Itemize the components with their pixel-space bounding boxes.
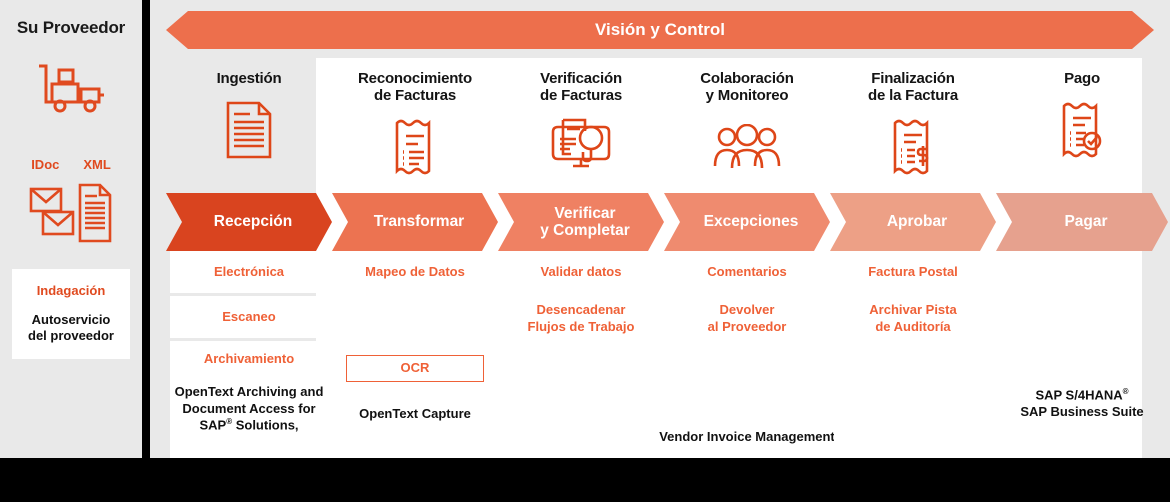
detail-label: Comentarios bbox=[707, 264, 786, 281]
column-title: Finalización de la Factura bbox=[868, 71, 958, 105]
inquiry-subtitle: Autoservicio del proveedor bbox=[18, 312, 124, 345]
column-title: Pago bbox=[1064, 71, 1100, 88]
detail-card: Vendor Invoice Management bbox=[668, 341, 826, 458]
bottom-bar bbox=[0, 458, 1170, 502]
detail-card: Electrónica bbox=[170, 251, 328, 293]
detail-card: OCR OpenText Capture bbox=[336, 341, 494, 458]
detail-card: Desencadenar Flujos de Trabajo bbox=[502, 296, 660, 341]
receipt-lines-icon bbox=[394, 117, 436, 177]
monitor-magnifier-icon bbox=[549, 117, 613, 177]
people-group-icon bbox=[712, 117, 782, 177]
document-lines-icon bbox=[226, 100, 272, 160]
detail-title: Archivamiento bbox=[170, 351, 328, 368]
format-idoc: IDoc bbox=[31, 157, 59, 172]
detail-card: Devolver al Proveedor bbox=[668, 296, 826, 341]
receipt-dollar-icon bbox=[892, 117, 934, 177]
step-label: Pagar bbox=[1056, 213, 1107, 230]
detail-label: Desencadenar Flujos de Trabajo bbox=[528, 302, 635, 336]
column-title: Reconocimiento de Facturas bbox=[358, 71, 472, 105]
detail-label: Devolver al Proveedor bbox=[708, 302, 787, 336]
step-pagar[interactable]: Pagar bbox=[996, 193, 1168, 251]
receipt-check-icon bbox=[1061, 100, 1103, 160]
detail-label: Factura Postal bbox=[868, 264, 958, 281]
detail-title: OCR bbox=[401, 360, 430, 377]
step-transformar[interactable]: Transformar bbox=[332, 193, 498, 251]
detail-card: Factura Postal bbox=[834, 251, 992, 293]
step-label: Recepción bbox=[206, 213, 292, 230]
detail-label: Archivar Pista de Auditoría bbox=[869, 302, 956, 336]
visibility-control-banner: Visión y Control bbox=[166, 11, 1154, 49]
detail-column-finalization: Factura Postal Archivar Pista de Auditor… bbox=[830, 251, 996, 458]
divider-gap bbox=[142, 0, 150, 502]
step-label: Transformar bbox=[366, 213, 464, 230]
column-title: Ingestión bbox=[217, 71, 282, 88]
step-excepciones[interactable]: Excepciones bbox=[664, 193, 830, 251]
detail-label: Electrónica bbox=[214, 264, 284, 281]
detail-label: Mapeo de Datos bbox=[365, 264, 465, 281]
detail-body: OpenText Archiving and Document Access f… bbox=[170, 384, 328, 434]
detail-card: Archivamiento OpenText Archiving and Doc… bbox=[170, 341, 328, 458]
detail-column-payment: SAP S/4HANA®SAP Business Suite bbox=[996, 251, 1168, 458]
detail-card: Archivar Pista de Auditoría bbox=[834, 296, 992, 341]
format-xml: XML bbox=[83, 157, 110, 172]
step-verificar-completar[interactable]: Verificar y Completar bbox=[498, 193, 664, 251]
detail-body: OpenText Capture bbox=[336, 406, 494, 423]
detail-body: SAP S/4HANA®SAP Business Suite bbox=[996, 387, 1168, 421]
detail-column-recognition: Mapeo de Datos OCR OpenText Capture bbox=[332, 251, 498, 458]
process-steps: Recepción Transformar Verificar y Comple… bbox=[166, 193, 1170, 251]
supplier-sidebar: Su Proveedor IDoc XML bbox=[0, 0, 142, 458]
delivery-truck-icon bbox=[35, 62, 107, 119]
detail-card bbox=[834, 341, 992, 458]
detail-label: Escaneo bbox=[222, 309, 275, 326]
column-title: Colaboración y Monitoreo bbox=[700, 71, 793, 105]
step-aprobar[interactable]: Aprobar bbox=[830, 193, 996, 251]
detail-spacer bbox=[336, 296, 494, 338]
detail-columns: Electrónica Escaneo Archivamiento OpenTe… bbox=[166, 251, 1170, 458]
infographic-root: Su Proveedor IDoc XML bbox=[0, 0, 1170, 502]
detail-card: Comentarios bbox=[668, 251, 826, 293]
banner-label: Visión y Control bbox=[595, 20, 725, 40]
detail-column-ingestion: Electrónica Escaneo Archivamiento OpenTe… bbox=[166, 251, 332, 458]
step-label: Verificar y Completar bbox=[532, 205, 630, 239]
detail-column-collaboration: Comentarios Devolver al Proveedor Vendor… bbox=[664, 251, 830, 458]
detail-card: Escaneo bbox=[170, 296, 328, 338]
detail-card: Validar datos bbox=[502, 251, 660, 293]
detail-card: Mapeo de Datos bbox=[336, 251, 494, 293]
step-label: Aprobar bbox=[879, 213, 947, 230]
step-recepcion[interactable]: Recepción bbox=[166, 193, 332, 251]
envelopes-document-icon bbox=[28, 182, 114, 249]
inquiry-card: Indagación Autoservicio del proveedor bbox=[12, 269, 130, 359]
sidebar-title: Su Proveedor bbox=[17, 18, 125, 38]
detail-label: Validar datos bbox=[541, 264, 622, 281]
inquiry-title: Indagación bbox=[18, 283, 124, 298]
column-title: Verificación de Facturas bbox=[540, 71, 622, 105]
detail-column-verification: Validar datos Desencadenar Flujos de Tra… bbox=[498, 251, 664, 458]
format-labels: IDoc XML bbox=[31, 157, 111, 172]
ocr-badge[interactable]: OCR bbox=[346, 355, 484, 382]
step-label: Excepciones bbox=[696, 213, 799, 230]
